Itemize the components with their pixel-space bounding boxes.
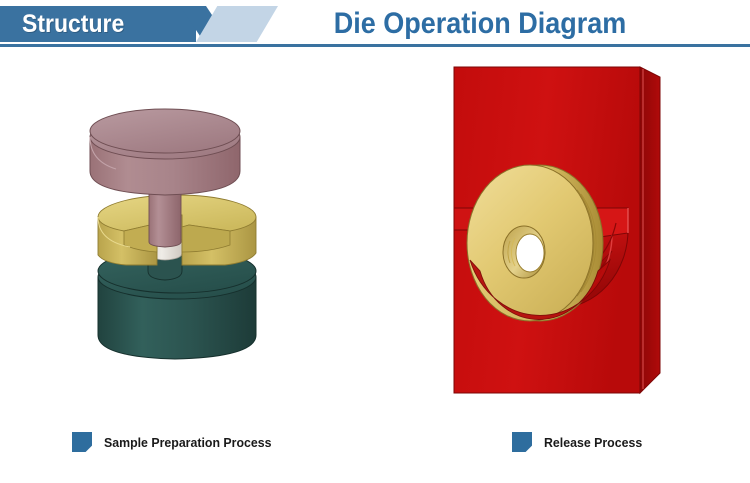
release-plate-svg xyxy=(440,55,700,405)
center-bore-through-hole xyxy=(516,234,544,272)
die-operation-diagram-page: Structure Die Operation Diagram xyxy=(0,0,750,483)
die-assembly-svg xyxy=(60,95,340,360)
sample-preparation-die-assembly xyxy=(60,95,340,360)
caption-sample-preparation-label: Sample Preparation Process xyxy=(104,435,271,450)
header-divider xyxy=(0,44,750,47)
release-die-plate xyxy=(440,55,700,405)
caption-release-process: Release Process xyxy=(512,432,647,452)
header-band-label: Structure xyxy=(22,7,169,41)
gold-ring xyxy=(467,165,603,321)
page-title: Die Operation Diagram xyxy=(300,4,660,44)
caption-sample-preparation: Sample Preparation Process xyxy=(72,432,280,452)
caption-release-process-label: Release Process xyxy=(544,435,642,450)
blue-notched-square-icon xyxy=(512,432,532,452)
punch-head xyxy=(90,109,240,195)
page-header: Structure Die Operation Diagram xyxy=(0,0,750,48)
release-plate-edge xyxy=(640,67,660,393)
blue-notched-square-icon xyxy=(72,432,92,452)
